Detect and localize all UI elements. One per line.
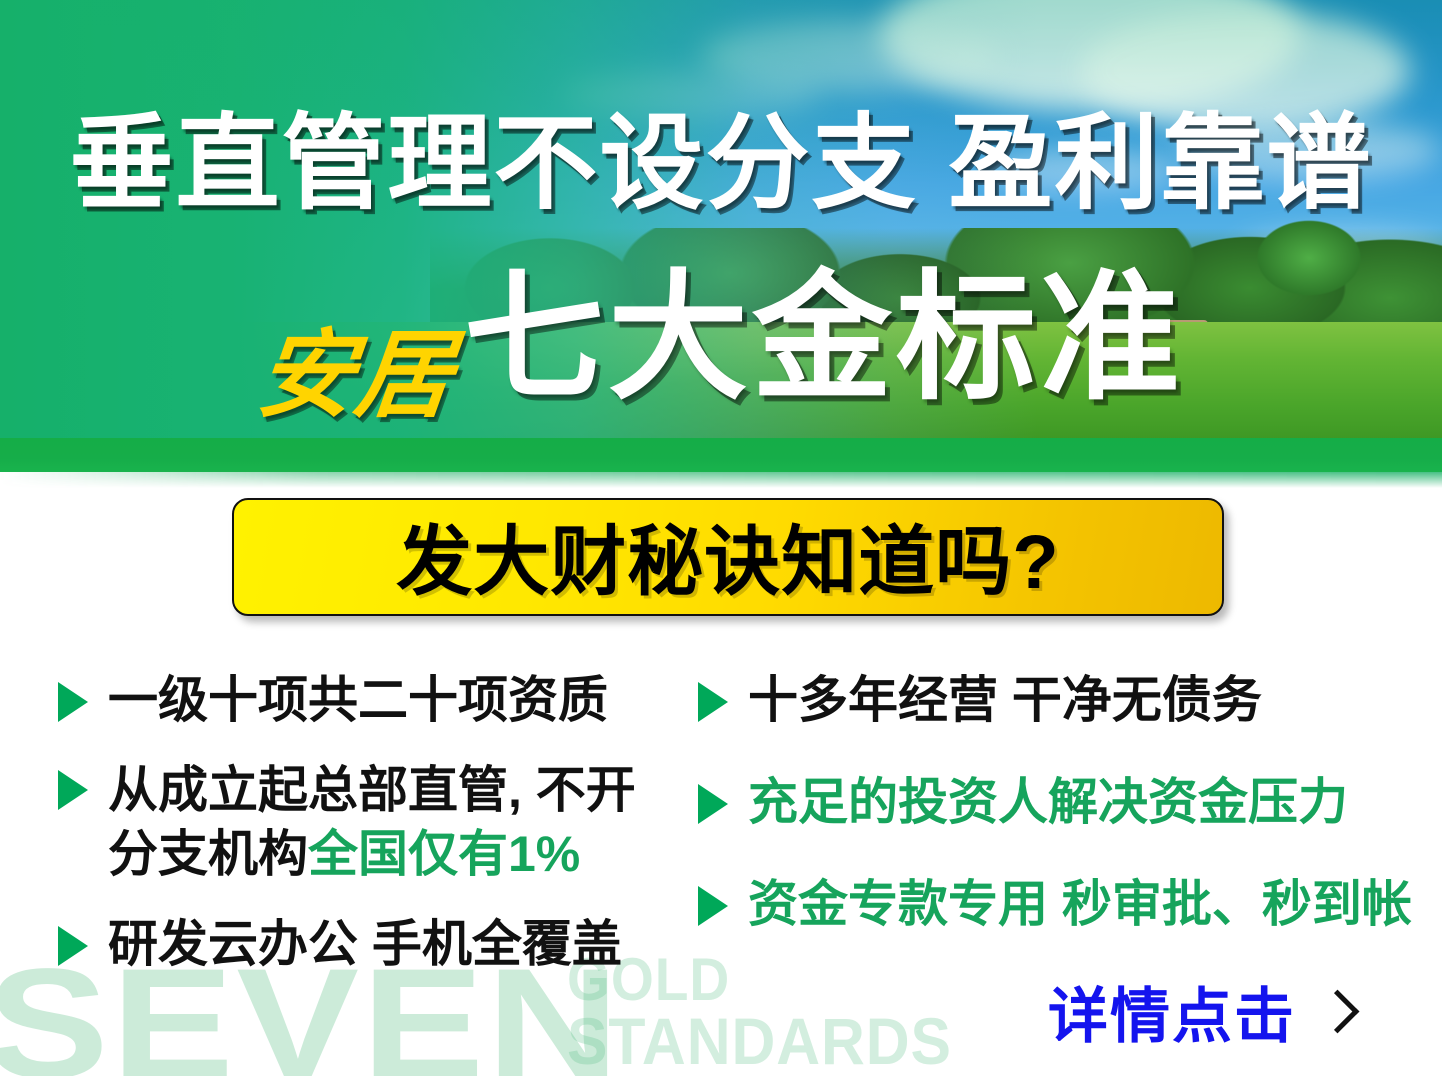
hero-headline: 垂直管理不设分支 盈利靠谱 <box>0 112 1442 216</box>
triangle-bullet-icon <box>58 770 88 810</box>
highlight-banner[interactable]: 发大财秘诀知道吗? <box>232 498 1224 616</box>
hero-banner: 垂直管理不设分支 盈利靠谱 安居七大金标准 <box>0 0 1442 472</box>
feature-text: 一级十项共二十项资质 <box>108 668 608 732</box>
feature-text: 充足的投资人解决资金压力 <box>748 770 1348 834</box>
feature-text: 研发云办公 手机全覆盖 <box>108 912 622 976</box>
triangle-bullet-icon <box>58 682 88 722</box>
feature-item: 研发云办公 手机全覆盖 <box>58 912 698 976</box>
feature-line: 充足的投资人解决资金压力 <box>748 774 1348 830</box>
feature-line: 研发云办公 手机全覆盖 <box>108 916 622 972</box>
feature-text: 资金专款专用 秒审批、秒到帐 <box>748 872 1412 936</box>
watermark-standards: STANDARDS <box>567 1011 952 1072</box>
feature-item: 充足的投资人解决资金压力 <box>698 770 1418 834</box>
feature-line: 资金专款专用 秒审批、秒到帐 <box>748 876 1412 932</box>
feature-line: 一级十项共二十项资质 <box>108 672 608 728</box>
hero-subtitle-main: 七大金标准 <box>464 268 1184 408</box>
highlight-banner-label: 发大财秘诀知道吗? <box>396 500 1059 610</box>
features-column-right: 十多年经营 干净无债务 充足的投资人解决资金压力 资金专款专用 秒审批、秒到帐 <box>698 648 1418 962</box>
details-link[interactable]: 详情点击 <box>1048 968 1353 1055</box>
feature-item: 从成立起总部直管, 不开 分支机构全国仅有1% <box>58 758 698 886</box>
triangle-bullet-icon <box>698 886 728 926</box>
hero-bottom-shadow <box>0 472 1442 488</box>
details-link-label: 详情点击 <box>1048 968 1296 1055</box>
feature-text: 十多年经营 干净无债务 <box>748 668 1262 732</box>
hero-subtitle-brand: 安居 <box>253 328 459 424</box>
feature-line-2: 分支机构全国仅有1% <box>108 822 636 886</box>
hero-bottom-bar <box>0 438 1442 472</box>
feature-line: 十多年经营 干净无债务 <box>748 672 1262 728</box>
triangle-bullet-icon <box>58 926 88 966</box>
chevron-right-icon <box>1316 990 1360 1034</box>
hero-subtitle: 安居七大金标准 <box>0 268 1442 408</box>
features-section: 一级十项共二十项资质 从成立起总部直管, 不开 分支机构全国仅有1% 研发云办公… <box>0 648 1442 1018</box>
feature-item: 一级十项共二十项资质 <box>58 668 698 732</box>
triangle-bullet-icon <box>698 784 728 824</box>
feature-item: 资金专款专用 秒审批、秒到帐 <box>698 872 1418 936</box>
feature-item: 十多年经营 干净无债务 <box>698 668 1418 732</box>
feature-line: 从成立起总部直管, 不开 <box>108 762 636 818</box>
feature-text: 从成立起总部直管, 不开 分支机构全国仅有1% <box>108 758 636 886</box>
feature-line-2-highlight: 全国仅有1% <box>308 826 580 882</box>
features-column-left: 一级十项共二十项资质 从成立起总部直管, 不开 分支机构全国仅有1% 研发云办公… <box>58 648 698 1002</box>
feature-line-2-plain: 分支机构 <box>108 826 308 882</box>
triangle-bullet-icon <box>698 682 728 722</box>
